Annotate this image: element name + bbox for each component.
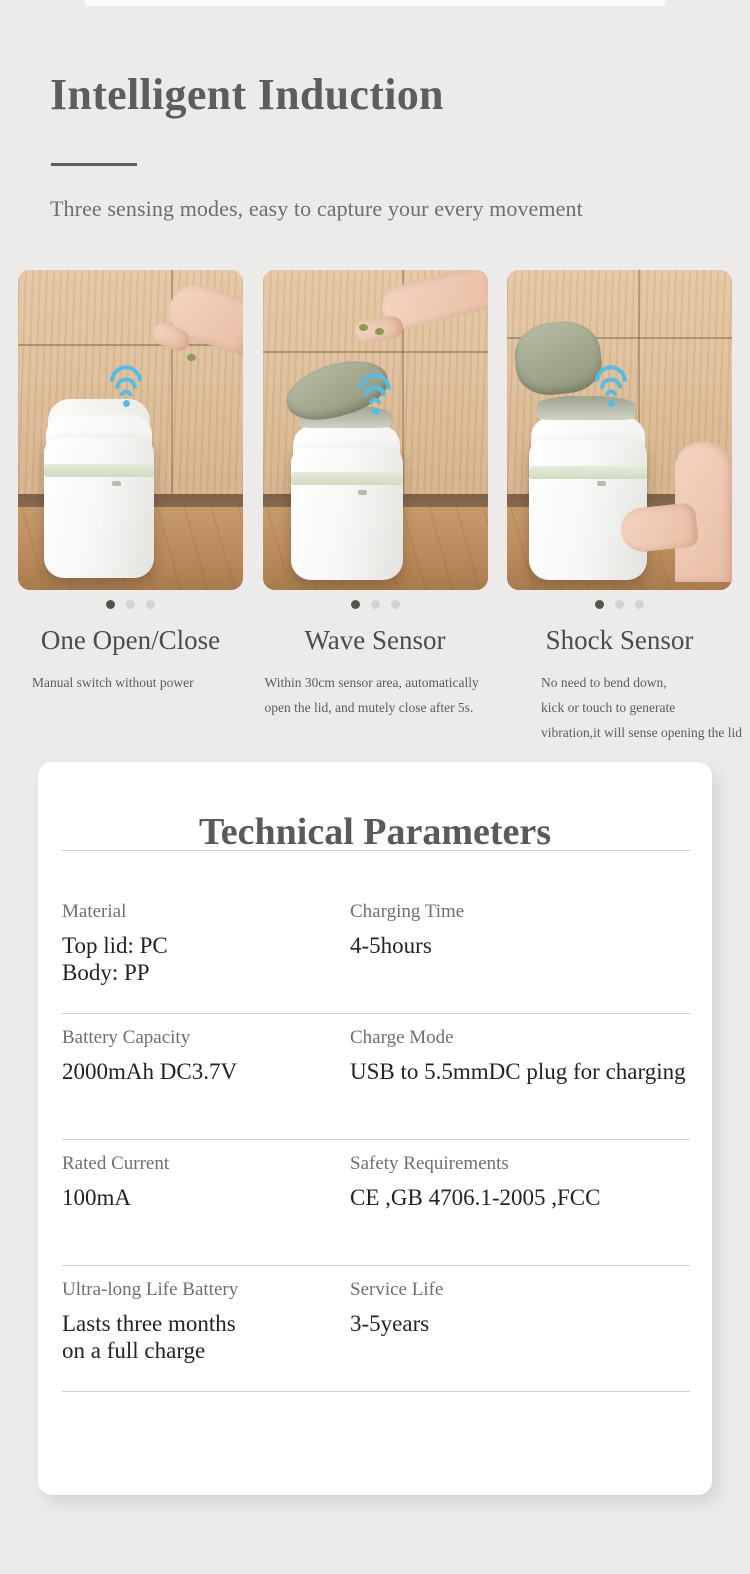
mode-description-line: open the lid, and mutely close after 5s. (265, 695, 479, 720)
spec-cell-right: Service Life 3-5years (350, 1276, 704, 1364)
page-subtitle: Three sensing modes, easy to capture you… (50, 196, 583, 222)
spec-cell-right: Charging Time 4-5hours (350, 898, 704, 986)
dot-3[interactable] (391, 600, 400, 609)
dot-3[interactable] (635, 600, 644, 609)
mode-title: Shock Sensor (467, 625, 750, 656)
spec-key: Charge Mode (350, 1024, 704, 1052)
dot-2[interactable] (615, 600, 624, 609)
dot-2[interactable] (126, 600, 135, 609)
spec-key: Material (62, 898, 350, 926)
spec-row: Ultra-long Life Battery Lasts three mont… (62, 1266, 704, 1392)
spec-row: Rated Current 100mA Safety Requirements … (62, 1140, 704, 1266)
technical-parameters-title: Technical Parameters (38, 810, 712, 854)
title-underline-rule (51, 163, 137, 166)
spec-value: 4-5hours (350, 932, 704, 959)
mode-description-line: Manual switch without power (32, 670, 194, 695)
spec-value: 100mA (62, 1184, 350, 1211)
spec-key: Battery Capacity (62, 1024, 350, 1052)
mode-description-line: No need to bend down, (541, 670, 742, 695)
spec-key: Ultra-long Life Battery (62, 1276, 350, 1304)
spec-cell-right: Charge Mode USB to 5.5mmDC plug for char… (350, 1024, 704, 1085)
dot-1[interactable] (351, 600, 360, 609)
mode-indicator-dots[interactable] (263, 600, 488, 609)
mode-photo-shock-sensor (507, 270, 732, 590)
sensor-waves-icon (126, 374, 160, 404)
mode-indicator-dots[interactable] (18, 600, 243, 609)
spec-value: USB to 5.5mmDC plug for charging (350, 1058, 704, 1085)
spec-row: Material Top lid: PC Body: PP Charging T… (62, 888, 704, 1014)
spec-divider (62, 850, 690, 851)
spec-cell-left: Rated Current 100mA (62, 1150, 350, 1211)
spec-value: 2000mAh DC3.7V (62, 1058, 350, 1085)
mode-description-line: Within 30cm sensor area, automatically (265, 670, 479, 695)
mode-description: No need to bend down, kick or touch to g… (541, 670, 742, 745)
spec-value: CE ,GB 4706.1-2005 ,FCC (350, 1184, 704, 1211)
mode-description-line: kick or touch to generate (541, 695, 742, 720)
spec-cell-right: Safety Requirements CE ,GB 4706.1-2005 ,… (350, 1150, 704, 1211)
mode-description: Within 30cm sensor area, automatically o… (265, 670, 479, 720)
dot-3[interactable] (146, 600, 155, 609)
spec-cell-left: Ultra-long Life Battery Lasts three mont… (62, 1276, 350, 1364)
dot-1[interactable] (595, 600, 604, 609)
mode-card-wave-sensor[interactable]: Wave Sensor Within 30cm sensor area, aut… (263, 270, 488, 590)
mode-description: Manual switch without power (32, 670, 194, 695)
spec-key: Charging Time (350, 898, 704, 926)
page-title: Intelligent Induction (50, 72, 444, 118)
spec-divider (62, 1391, 690, 1392)
technical-parameters-panel: Technical Parameters Material Top lid: P… (38, 762, 712, 1495)
technical-parameters-table: Material Top lid: PC Body: PP Charging T… (62, 888, 704, 1392)
mode-photo-wave-sensor (263, 270, 488, 590)
sensing-modes-gallery: One Open/Close Manual switch without pow… (18, 270, 732, 590)
product-detail-page: Intelligent Induction Three sensing mode… (0, 0, 750, 1574)
spec-value: 3-5years (350, 1310, 704, 1337)
spec-value: Top lid: PC Body: PP (62, 932, 350, 986)
dot-2[interactable] (371, 600, 380, 609)
spec-value: Lasts three months on a full charge (62, 1310, 350, 1364)
mode-description-line: vibration,it will sense opening the lid (541, 720, 742, 745)
mode-indicator-dots[interactable] (507, 600, 732, 609)
spec-row: Battery Capacity 2000mAh DC3.7V Charge M… (62, 1014, 704, 1140)
mode-photo-one-open-close (18, 270, 243, 590)
sensor-waves-icon (375, 382, 409, 412)
spec-key: Safety Requirements (350, 1150, 704, 1178)
previous-section-edge (85, 0, 665, 6)
spec-key: Service Life (350, 1276, 704, 1304)
dot-1[interactable] (106, 600, 115, 609)
spec-key: Rated Current (62, 1150, 350, 1178)
mode-card-one-open-close[interactable]: One Open/Close Manual switch without pow… (18, 270, 243, 590)
spec-cell-left: Battery Capacity 2000mAh DC3.7V (62, 1024, 350, 1085)
mode-card-shock-sensor[interactable]: Shock Sensor No need to bend down, kick … (507, 270, 732, 590)
sensor-waves-icon (611, 374, 645, 404)
spec-cell-left: Material Top lid: PC Body: PP (62, 898, 350, 986)
